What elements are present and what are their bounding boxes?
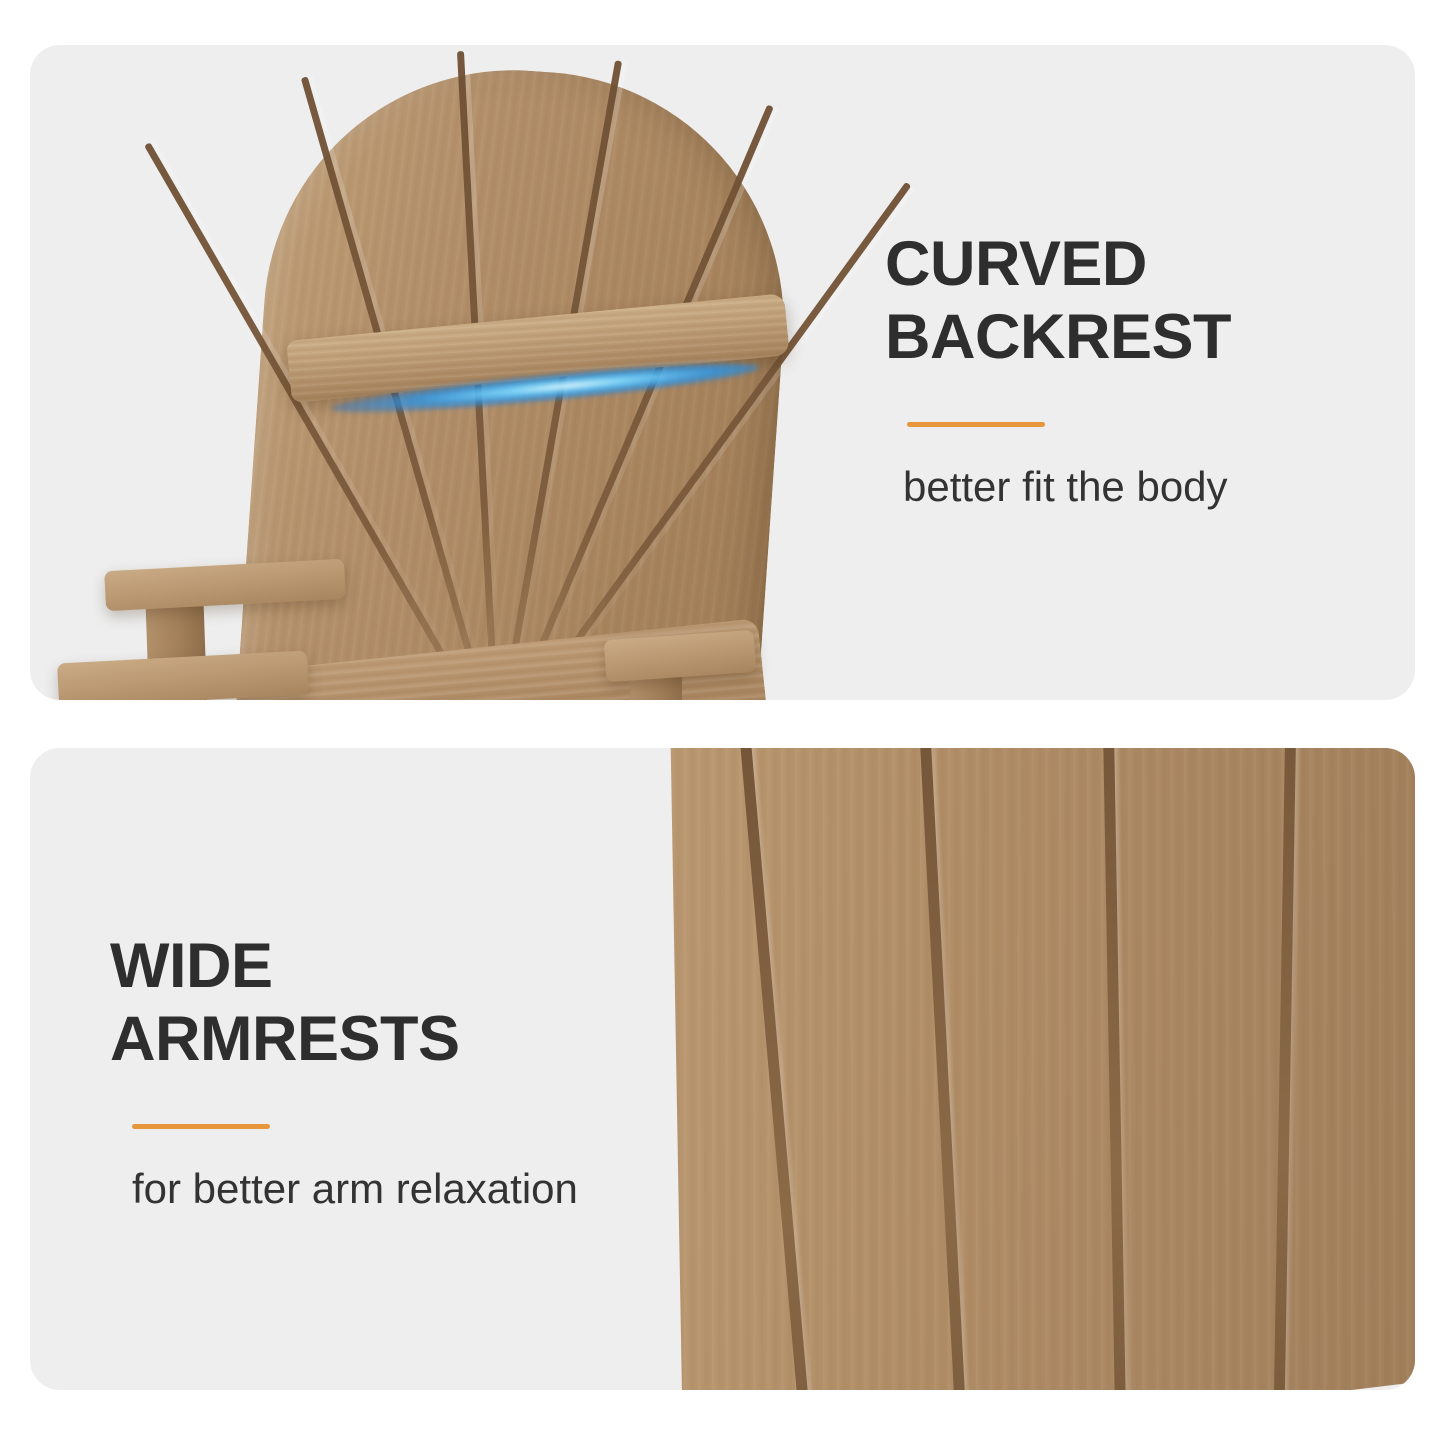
headline-curved-backrest: CURVED BACKREST — [885, 228, 1355, 374]
chair-backrest-panel — [670, 748, 1415, 1390]
text-block-curved-backrest: CURVED BACKREST better fit the body — [885, 228, 1355, 511]
panel-wide-armrests: WIDE ARMRESTS for better arm relaxation — [30, 748, 1415, 1390]
backrest-slat-gap — [731, 748, 813, 1390]
subline-curved-backrest: better fit the body — [903, 463, 1355, 511]
chair-armrest-left-lower — [57, 650, 309, 700]
accent-divider — [907, 422, 1045, 427]
headline-wide-armrests: WIDE ARMRESTS — [110, 930, 670, 1076]
backrest-slat-gap — [1274, 748, 1299, 1390]
subline-wide-armrests: for better arm relaxation — [132, 1165, 670, 1213]
text-block-wide-armrests: WIDE ARMRESTS for better arm relaxation — [110, 930, 670, 1213]
backrest-slat-gap — [914, 748, 968, 1390]
backrest-slat-gap — [1101, 748, 1126, 1390]
accent-divider — [132, 1124, 270, 1129]
panel-curved-backrest: CURVED BACKREST better fit the body — [30, 45, 1415, 700]
